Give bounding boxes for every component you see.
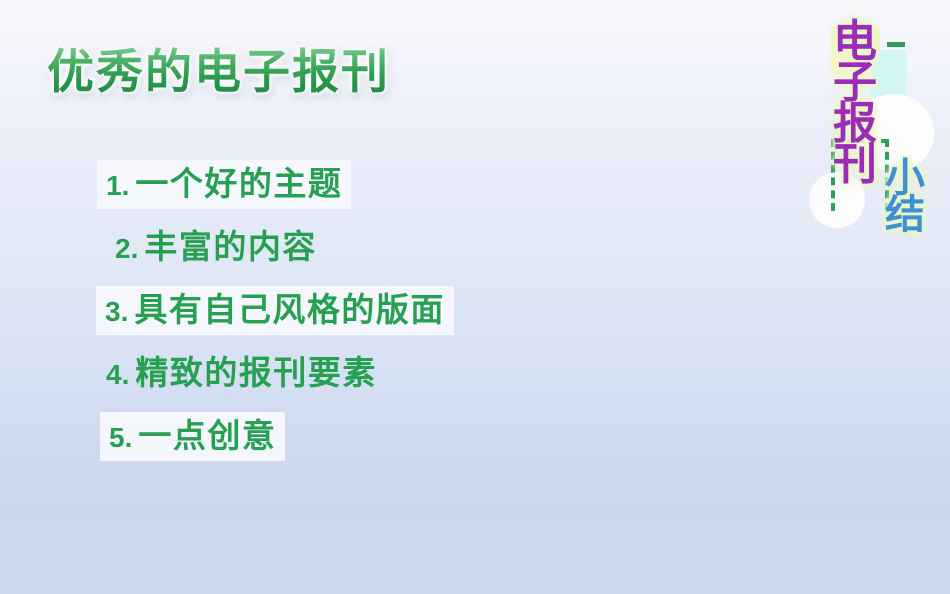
list-item-number: 1. xyxy=(106,170,129,201)
list-item: 5.一点创意 xyxy=(100,412,695,475)
list-item-row: 1.一个好的主题 xyxy=(97,160,351,209)
list-item-text: 一个好的主题 xyxy=(135,165,342,202)
list-item-text: 精致的报刊要素 xyxy=(135,354,377,391)
list-item-text: 丰富的内容 xyxy=(144,228,317,265)
list-item-number: 3. xyxy=(105,296,128,327)
presentation-slide: 优秀的电子报刊 1.一个好的主题 2.丰富的内容 3.具有自己风格的版面 4.精… xyxy=(0,0,950,594)
list-item-row: 2.丰富的内容 xyxy=(106,223,326,272)
list-item-number: 4. xyxy=(106,359,129,390)
list-item: 1.一个好的主题 xyxy=(97,160,695,223)
slide-title: 优秀的电子报刊 xyxy=(47,46,390,98)
list-item-row: 4.精致的报刊要素 xyxy=(97,349,386,398)
bullet-list: 1.一个好的主题 2.丰富的内容 3.具有自己风格的版面 4.精致的报刊要素 5… xyxy=(95,160,695,475)
dashed-line-shape xyxy=(887,42,905,47)
decorative-title-vertical: 电 子 报 刊 xyxy=(833,22,877,186)
list-item: 3.具有自己风格的版面 xyxy=(96,286,695,349)
list-item-row: 3.具有自己风格的版面 xyxy=(96,286,454,335)
list-item-number: 5. xyxy=(109,422,132,453)
list-item: 2.丰富的内容 xyxy=(106,223,695,286)
list-item-text: 一点创意 xyxy=(138,417,276,454)
list-item-number: 2. xyxy=(115,233,138,264)
decorative-subtitle-vertical: 小 结 xyxy=(885,160,925,234)
list-item-row: 5.一点创意 xyxy=(100,412,285,461)
list-item-text: 具有自己风格的版面 xyxy=(134,291,445,328)
list-item: 4.精致的报刊要素 xyxy=(97,349,695,412)
decorative-sidebar: 电 子 报 刊 小 结 xyxy=(800,0,950,300)
